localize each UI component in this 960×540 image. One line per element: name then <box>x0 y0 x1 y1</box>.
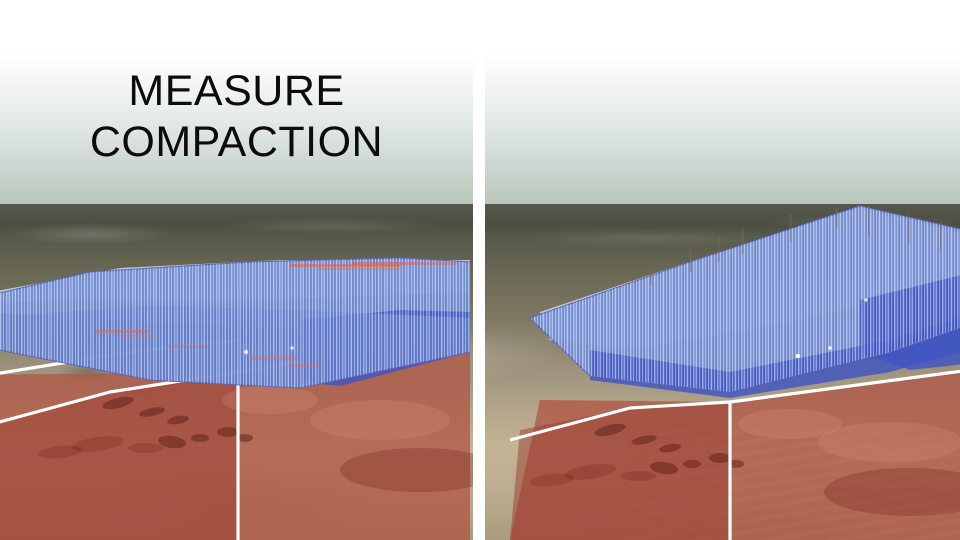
airspace-volume-right <box>485 0 960 540</box>
panel-title-measure-compaction: MEASURE COMPACTION <box>0 66 473 167</box>
panel-maximize-airspace: MAXIMIZE AIRSPACE <box>485 0 960 540</box>
panel-measure-compaction: MEASURE COMPACTION <box>0 0 473 540</box>
scene-3d-right <box>485 0 960 540</box>
slide-canvas: MEASURE COMPACTION <box>0 0 960 540</box>
panel-divider <box>473 0 485 540</box>
